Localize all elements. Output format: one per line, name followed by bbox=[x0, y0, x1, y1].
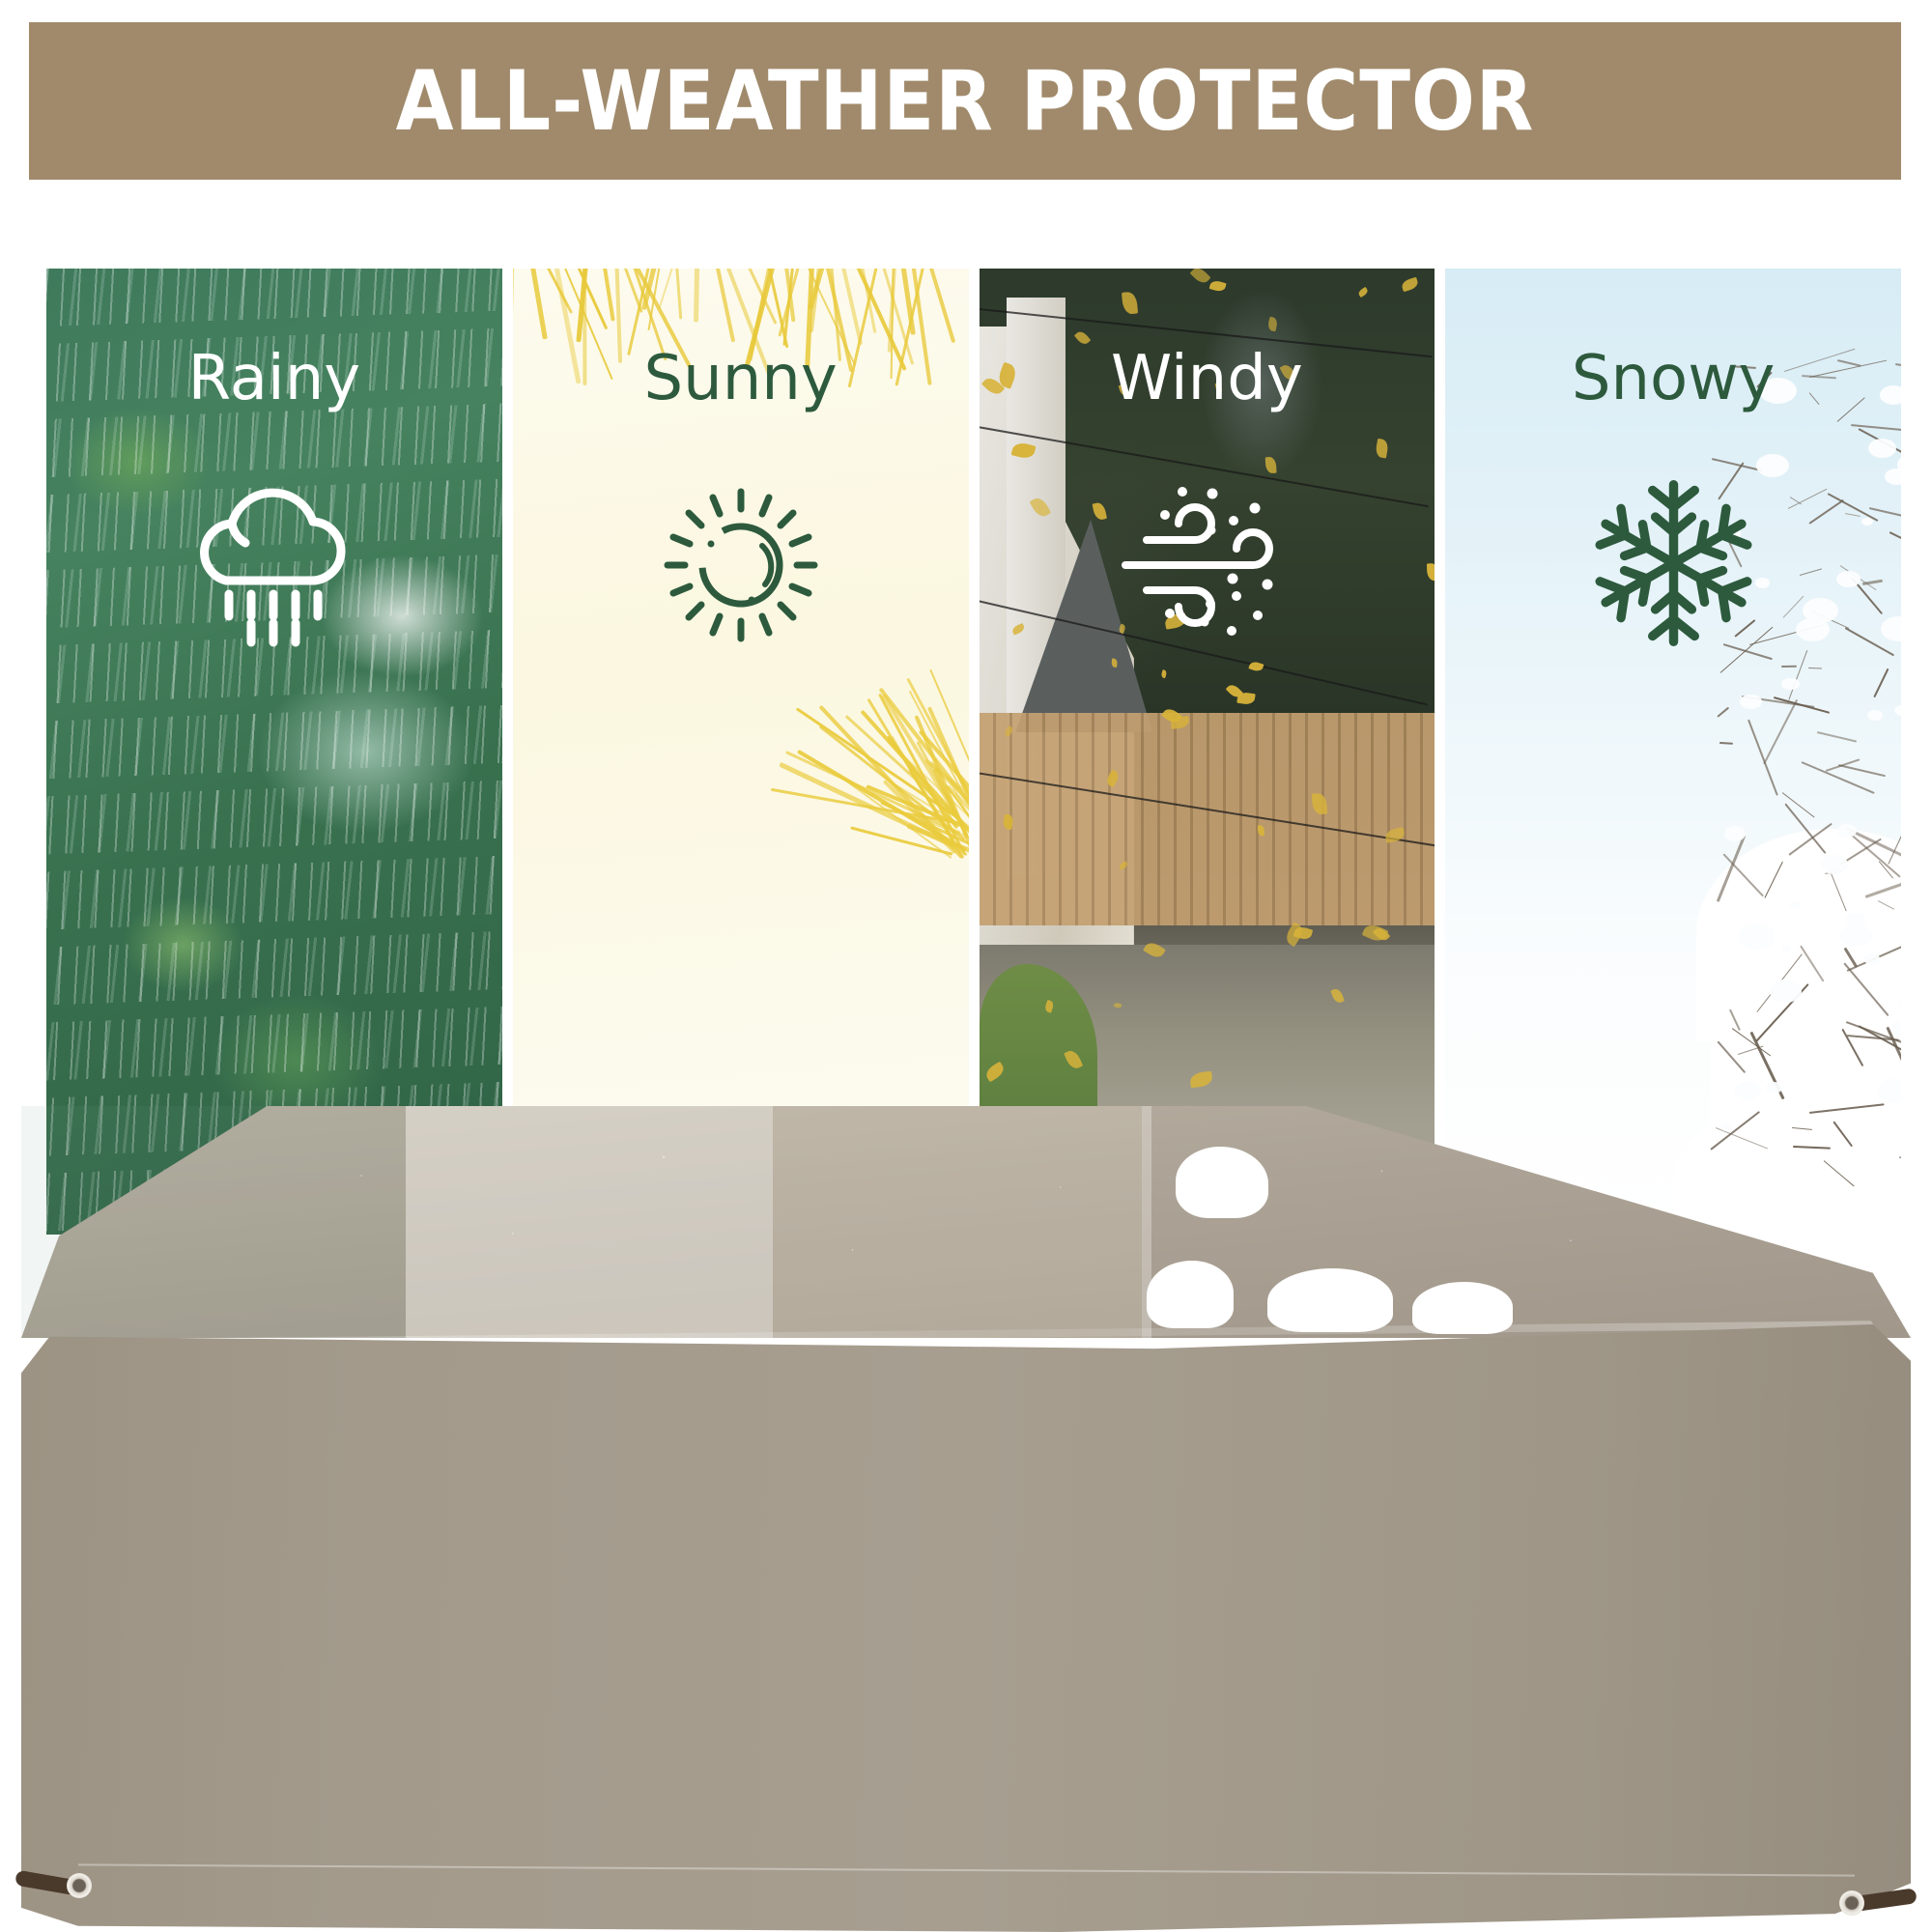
weather-panel-windy: Windy bbox=[980, 269, 1435, 1235]
palm-leaf-blade bbox=[694, 269, 699, 323]
snow-clump bbox=[1740, 695, 1761, 710]
snow-clump bbox=[1724, 826, 1746, 841]
sun-icon-wrap bbox=[513, 476, 969, 650]
snow-patch bbox=[1267, 1268, 1393, 1332]
fence-shape bbox=[980, 713, 1435, 925]
palm-leaf-blade bbox=[526, 269, 547, 340]
snow-patch bbox=[1147, 1261, 1234, 1328]
weather-panel-rainy: Rainy bbox=[46, 269, 502, 1235]
snow-patch bbox=[1412, 1282, 1513, 1334]
outdoor-furniture-cover bbox=[21, 1106, 1911, 1932]
snow-clump bbox=[1864, 953, 1880, 964]
grommet-left[interactable] bbox=[67, 1873, 92, 1898]
snow-clump bbox=[1781, 678, 1799, 691]
cover-water-beads bbox=[21, 1106, 1911, 1338]
snow-clump bbox=[1790, 901, 1802, 909]
snow-clump bbox=[1837, 824, 1857, 838]
weather-panel-strip: Rainy Sunny bbox=[46, 269, 1901, 1235]
weather-panel-sunny: Sunny bbox=[513, 269, 969, 1235]
snow-clump bbox=[1840, 924, 1871, 947]
weather-label-snowy: Snowy bbox=[1445, 348, 1901, 410]
snow-clump bbox=[1894, 705, 1901, 716]
weather-label-windy: Windy bbox=[980, 348, 1435, 410]
wind-icon bbox=[1110, 476, 1303, 650]
weather-label-sunny: Sunny bbox=[513, 348, 969, 410]
snow-clump bbox=[1867, 710, 1882, 721]
snow-clump bbox=[1766, 1082, 1782, 1094]
cloud-rain-icon-wrap bbox=[46, 476, 502, 650]
weather-label-rainy: Rainy bbox=[46, 348, 502, 410]
header-banner: ALL-WEATHER PROTECTOR bbox=[29, 22, 1901, 180]
palm-leaf-blade bbox=[674, 269, 683, 319]
snow-clump bbox=[1781, 946, 1791, 952]
sun-icon bbox=[654, 476, 828, 650]
palm-frond-bottom bbox=[679, 781, 969, 1070]
snowflake-icon-wrap bbox=[1445, 476, 1901, 650]
snow-clump bbox=[1846, 913, 1864, 926]
cloud-rain-icon bbox=[183, 476, 366, 650]
palm-leaf-blade bbox=[601, 269, 615, 322]
snow-clump bbox=[1770, 980, 1802, 1003]
snowflake-icon bbox=[1589, 476, 1758, 650]
page-title: ALL-WEATHER PROTECTOR bbox=[396, 60, 1535, 143]
wind-icon-wrap bbox=[980, 476, 1435, 650]
cover-front-panel bbox=[21, 1324, 1911, 1932]
weather-panel-snowy: Snowy bbox=[1445, 269, 1901, 1235]
grommet-right[interactable] bbox=[1839, 1890, 1864, 1916]
snow-patch bbox=[1176, 1147, 1268, 1218]
